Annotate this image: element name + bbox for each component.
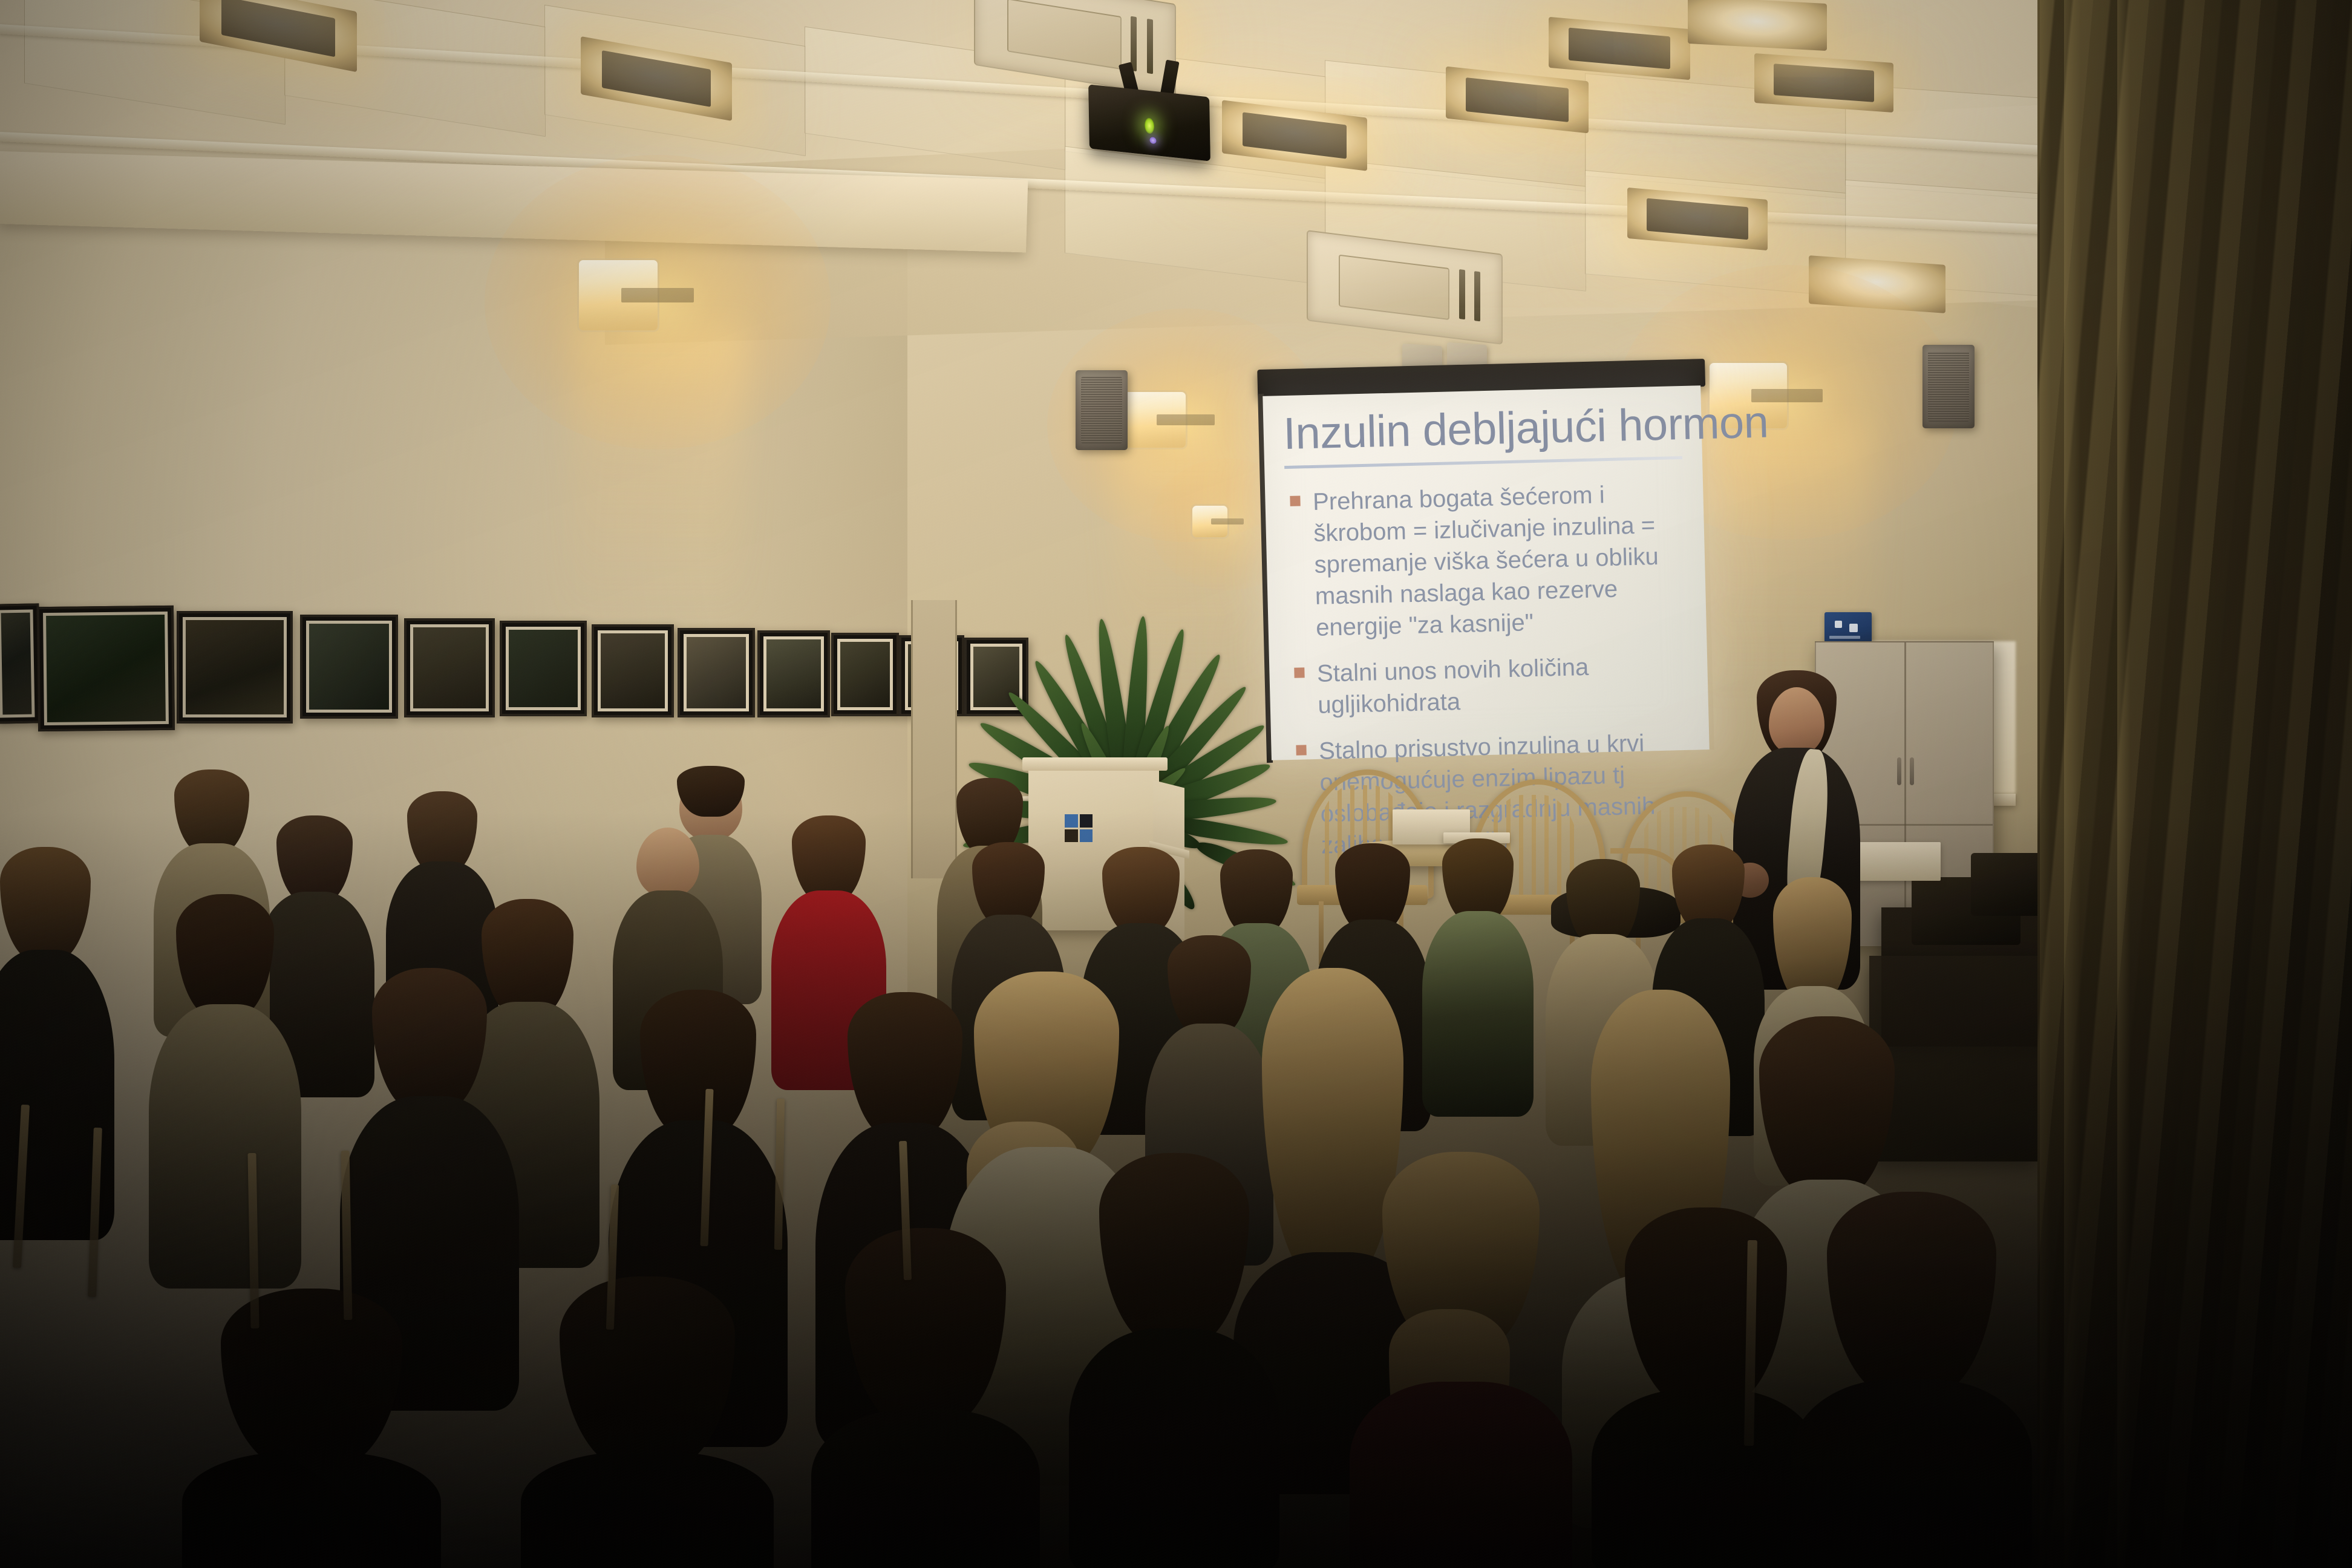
wall-sconce: [618, 260, 697, 330]
framed-photo: [37, 606, 175, 731]
framed-photo: [300, 615, 398, 719]
ceiling-light-fixture: [1688, 0, 1827, 51]
audience-member: [1349, 1152, 1573, 1568]
audience-member: [181, 1289, 442, 1568]
slide-title: Inzulin debljajući hormon: [1282, 400, 1682, 457]
projector-status-led: [1149, 137, 1156, 144]
audience-member: [1422, 838, 1534, 1099]
framed-photo: [177, 611, 293, 724]
framed-photo: [500, 621, 587, 716]
projector-power-led: [1145, 117, 1154, 134]
lecture-hall-photo: Inzulin debljajući hormon Prehrana bogat…: [0, 0, 2352, 1568]
framed-photo: [0, 603, 41, 724]
slide-title-rule: [1284, 456, 1683, 469]
audience-ponytail: [1773, 877, 1852, 1004]
slide-bullet-1: Prehrana bogata šećerom i škrobom = izlu…: [1285, 477, 1687, 644]
framed-photo: [592, 624, 674, 717]
framed-photo: [678, 628, 755, 717]
audience-member: [148, 894, 302, 1257]
wall-speaker: [1922, 345, 1975, 428]
slide-bullet-2: Stalni unos novih količina ugljikohidrat…: [1289, 649, 1688, 722]
blue-information-sign: [1824, 612, 1872, 642]
audience-member: [520, 1276, 774, 1568]
lectern-top: [1022, 757, 1168, 771]
lectern-logo-icon: [1065, 814, 1093, 842]
ceiling-light-fixture: [1754, 53, 1893, 113]
curtain-fold: [2064, 0, 2092, 1568]
projection-screen: Inzulin debljajući hormon Prehrana bogat…: [1257, 359, 1714, 760]
framed-photo: [831, 633, 899, 716]
audience-member: [1591, 1207, 1821, 1568]
wall-speaker: [1076, 370, 1128, 450]
framed-photo: [404, 618, 495, 717]
curtain-fold: [2117, 0, 2139, 1568]
audience-member: [1068, 1153, 1280, 1568]
audience-member: [811, 1228, 1040, 1568]
slide-content: Inzulin debljajući hormon Prehrana bogat…: [1282, 400, 1689, 738]
screen-surface: Inzulin debljajući hormon Prehrana bogat…: [1263, 385, 1709, 760]
ceiling-projector: [1088, 84, 1210, 161]
framed-photo: [757, 630, 830, 717]
wall-sconce: [1154, 392, 1217, 448]
audience-member: [1791, 1192, 2033, 1568]
curtain-fold: [2040, 0, 2058, 1568]
av-equipment: [1971, 853, 2043, 916]
ceiling-light-fixture: [1809, 255, 1945, 313]
